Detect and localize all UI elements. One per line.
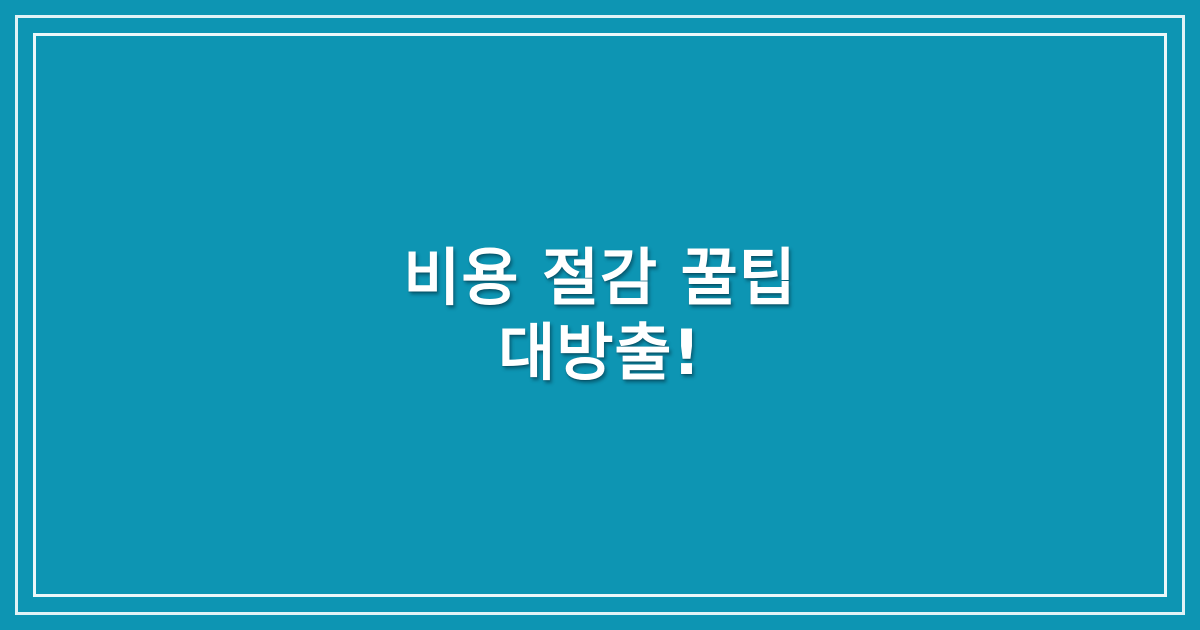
headline-container: 비용 절감 꿀팁 대방출! — [0, 0, 1200, 630]
headline-line-1: 비용 절감 꿀팁 — [403, 240, 796, 315]
banner-card: 비용 절감 꿀팁 대방출! — [0, 0, 1200, 630]
headline-line-2: 대방출! — [403, 315, 796, 390]
page-title: 비용 절감 꿀팁 대방출! — [403, 240, 796, 390]
